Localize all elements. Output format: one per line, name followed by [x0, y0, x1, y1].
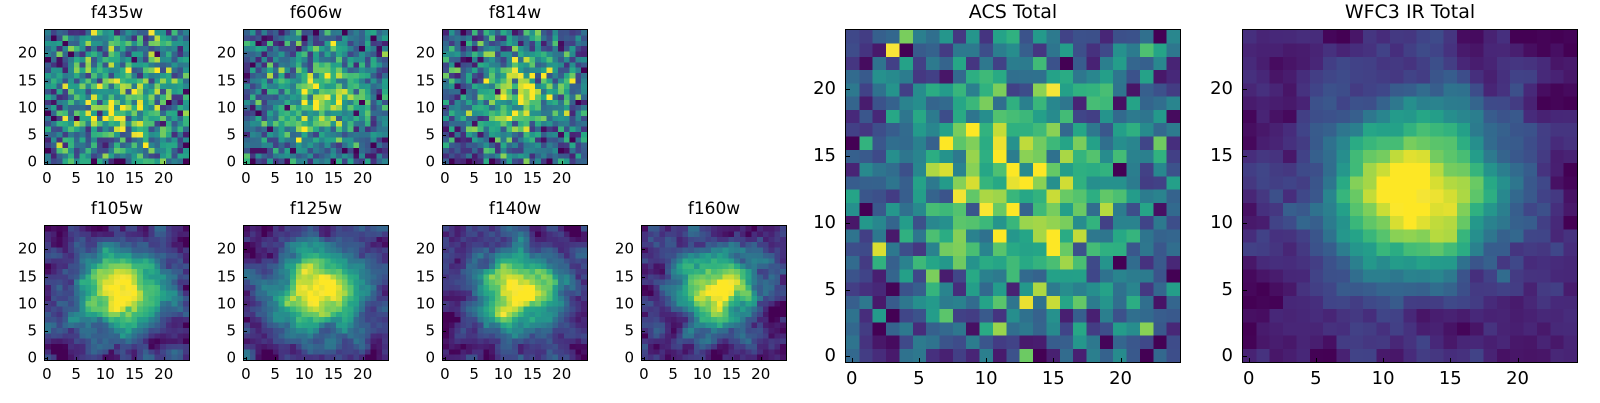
yticklabel-acs_total-2: 10: [805, 214, 836, 232]
heatmap-image: [244, 226, 388, 360]
xtick-wfc3_ir_total-0: [1249, 358, 1250, 363]
ytick-f140w-0: [442, 358, 446, 359]
xticklabel-f105w-4: 20: [154, 367, 173, 382]
ytick-f125w-1: [243, 331, 247, 332]
yticklabel-wfc3_ir_total-1: 5: [1202, 281, 1233, 299]
axes-f105w: [44, 225, 190, 361]
xticklabel-wfc3_ir_total-2: 10: [1372, 370, 1395, 388]
yticklabel-f606w-2: 10: [203, 100, 236, 115]
ytick-f160w-0: [641, 358, 645, 359]
axes-wfc3_ir_total: [1242, 29, 1578, 363]
xtick-f606w-4: [363, 161, 364, 165]
xticklabel-f606w-4: 20: [353, 171, 372, 186]
yticklabel-acs_total-3: 15: [805, 147, 836, 165]
xtick-f140w-4: [562, 357, 563, 361]
xtick-f125w-1: [275, 357, 276, 361]
ytick-f105w-4: [44, 249, 48, 250]
xtick-f105w-1: [76, 357, 77, 361]
yticklabel-acs_total-4: 20: [805, 80, 836, 98]
xticklabel-f160w-4: 20: [751, 367, 770, 382]
xticklabel-f125w-4: 20: [353, 367, 372, 382]
xticklabel-f125w-2: 10: [295, 367, 314, 382]
xtick-acs_total-3: [1053, 358, 1054, 363]
panel-title-acs_total: ACS Total: [845, 3, 1181, 22]
axes-acs_total: [845, 29, 1181, 363]
panel-title-f606w: f606w: [243, 5, 389, 22]
xticklabel-f140w-4: 20: [552, 367, 571, 382]
xticklabel-f435w-2: 10: [96, 171, 115, 186]
xticklabel-f814w-4: 20: [552, 171, 571, 186]
xticklabel-f814w-3: 15: [523, 171, 542, 186]
xticklabel-acs_total-1: 5: [913, 370, 924, 388]
ytick-wfc3_ir_total-0: [1242, 356, 1247, 357]
ytick-f606w-0: [243, 162, 247, 163]
yticklabel-f814w-2: 10: [402, 100, 435, 115]
xticklabel-acs_total-2: 10: [975, 370, 998, 388]
panel-title-f125w: f125w: [243, 201, 389, 218]
yticklabel-wfc3_ir_total-2: 10: [1202, 214, 1233, 232]
xticklabel-f140w-3: 15: [523, 367, 542, 382]
xtick-wfc3_ir_total-4: [1518, 358, 1519, 363]
ytick-f125w-4: [243, 249, 247, 250]
xtick-wfc3_ir_total-3: [1450, 358, 1451, 363]
xticklabel-f125w-3: 15: [324, 367, 343, 382]
axes-f125w: [243, 225, 389, 361]
yticklabel-f140w-2: 10: [402, 296, 435, 311]
panel-title-f814w: f814w: [442, 5, 588, 22]
ytick-f814w-2: [442, 108, 446, 109]
yticklabel-f160w-2: 10: [601, 296, 634, 311]
yticklabel-f814w-3: 15: [402, 73, 435, 88]
xticklabel-f125w-1: 5: [270, 367, 280, 382]
ytick-f160w-2: [641, 304, 645, 305]
panel-title-f160w: f160w: [641, 201, 787, 218]
yticklabel-f140w-3: 15: [402, 269, 435, 284]
xticklabel-acs_total-3: 15: [1042, 370, 1065, 388]
ytick-wfc3_ir_total-2: [1242, 223, 1247, 224]
ytick-f125w-3: [243, 277, 247, 278]
ytick-wfc3_ir_total-3: [1242, 156, 1247, 157]
ytick-acs_total-4: [845, 89, 850, 90]
yticklabel-f140w-4: 20: [402, 242, 435, 257]
yticklabel-f140w-0: 0: [402, 351, 435, 366]
xtick-acs_total-2: [986, 358, 987, 363]
xticklabel-f814w-1: 5: [469, 171, 479, 186]
yticklabel-f606w-3: 15: [203, 73, 236, 88]
xtick-f105w-4: [164, 357, 165, 361]
ytick-acs_total-2: [845, 223, 850, 224]
xticklabel-acs_total-4: 20: [1109, 370, 1132, 388]
panel-f435w: f435w0510152005101520: [4, 5, 190, 205]
xticklabel-wfc3_ir_total-3: 15: [1439, 370, 1462, 388]
panel-title-f435w: f435w: [44, 5, 190, 22]
xtick-f160w-3: [732, 357, 733, 361]
xticklabel-acs_total-0: 0: [846, 370, 857, 388]
ytick-f105w-2: [44, 304, 48, 305]
xticklabel-f105w-1: 5: [71, 367, 81, 382]
yticklabel-f606w-1: 5: [203, 128, 236, 143]
xtick-f160w-2: [702, 357, 703, 361]
ytick-f435w-3: [44, 81, 48, 82]
xticklabel-f435w-3: 15: [125, 171, 144, 186]
yticklabel-f105w-2: 10: [4, 296, 37, 311]
xtick-f606w-2: [304, 161, 305, 165]
yticklabel-wfc3_ir_total-0: 0: [1202, 347, 1233, 365]
panel-title-f140w: f140w: [442, 201, 588, 218]
xticklabel-wfc3_ir_total-4: 20: [1506, 370, 1529, 388]
yticklabel-f814w-1: 5: [402, 128, 435, 143]
xticklabel-f160w-0: 0: [639, 367, 649, 382]
ytick-f606w-3: [243, 81, 247, 82]
yticklabel-f435w-3: 15: [4, 73, 37, 88]
xtick-f125w-2: [304, 357, 305, 361]
yticklabel-wfc3_ir_total-4: 20: [1202, 80, 1233, 98]
xtick-f125w-4: [363, 357, 364, 361]
ytick-f125w-0: [243, 358, 247, 359]
heatmap-image: [443, 30, 587, 164]
heatmap-image: [642, 226, 786, 360]
yticklabel-f435w-4: 20: [4, 46, 37, 61]
panel-title-f105w: f105w: [44, 201, 190, 218]
yticklabel-f125w-3: 15: [203, 269, 236, 284]
xticklabel-wfc3_ir_total-1: 5: [1310, 370, 1321, 388]
xticklabel-f105w-2: 10: [96, 367, 115, 382]
yticklabel-f105w-1: 5: [4, 324, 37, 339]
xtick-f435w-2: [105, 161, 106, 165]
xtick-f160w-1: [673, 357, 674, 361]
xtick-f105w-3: [135, 357, 136, 361]
yticklabel-f814w-0: 0: [402, 155, 435, 170]
ytick-f105w-0: [44, 358, 48, 359]
yticklabel-f125w-1: 5: [203, 324, 236, 339]
xtick-f125w-3: [334, 357, 335, 361]
ytick-f435w-2: [44, 108, 48, 109]
xticklabel-f140w-1: 5: [469, 367, 479, 382]
ytick-acs_total-0: [845, 356, 850, 357]
ytick-f814w-0: [442, 162, 446, 163]
ytick-f814w-3: [442, 81, 446, 82]
xticklabel-f160w-1: 5: [668, 367, 678, 382]
figure-canvas: f435w0510152005101520f606w05101520051015…: [0, 0, 1600, 400]
heatmap-image: [45, 30, 189, 164]
xtick-f814w-4: [562, 161, 563, 165]
heatmap-image: [45, 226, 189, 360]
xtick-f160w-4: [761, 357, 762, 361]
panel-f125w: f125w0510152005101520: [203, 201, 389, 401]
yticklabel-f160w-0: 0: [601, 351, 634, 366]
heatmap-image: [846, 30, 1180, 362]
xtick-f814w-2: [503, 161, 504, 165]
ytick-f140w-2: [442, 304, 446, 305]
panel-wfc3_ir_total: WFC3 IR Total0510152005101520: [1202, 3, 1578, 403]
xticklabel-f140w-0: 0: [440, 367, 450, 382]
ytick-f125w-2: [243, 304, 247, 305]
xticklabel-f606w-0: 0: [241, 171, 251, 186]
xticklabel-f435w-0: 0: [42, 171, 52, 186]
ytick-f435w-4: [44, 53, 48, 54]
ytick-acs_total-3: [845, 156, 850, 157]
ytick-f435w-0: [44, 162, 48, 163]
xtick-f435w-4: [164, 161, 165, 165]
xtick-f140w-2: [503, 357, 504, 361]
xtick-acs_total-0: [852, 358, 853, 363]
ytick-wfc3_ir_total-4: [1242, 89, 1247, 90]
axes-f606w: [243, 29, 389, 165]
yticklabel-acs_total-0: 0: [805, 347, 836, 365]
ytick-f435w-1: [44, 135, 48, 136]
yticklabel-f160w-1: 5: [601, 324, 634, 339]
xticklabel-f435w-4: 20: [154, 171, 173, 186]
xticklabel-f105w-0: 0: [42, 367, 52, 382]
yticklabel-f435w-0: 0: [4, 155, 37, 170]
yticklabel-f606w-0: 0: [203, 155, 236, 170]
axes-f160w: [641, 225, 787, 361]
xtick-f435w-1: [76, 161, 77, 165]
yticklabel-f105w-0: 0: [4, 351, 37, 366]
xticklabel-f814w-0: 0: [440, 171, 450, 186]
xticklabel-f606w-2: 10: [295, 171, 314, 186]
ytick-wfc3_ir_total-1: [1242, 290, 1247, 291]
panel-f105w: f105w0510152005101520: [4, 201, 190, 401]
axes-f140w: [442, 225, 588, 361]
axes-f814w: [442, 29, 588, 165]
panel-acs_total: ACS Total0510152005101520: [805, 3, 1181, 403]
axes-f435w: [44, 29, 190, 165]
xtick-f606w-3: [334, 161, 335, 165]
ytick-f160w-4: [641, 249, 645, 250]
yticklabel-f160w-3: 15: [601, 269, 634, 284]
xticklabel-f814w-2: 10: [494, 171, 513, 186]
xtick-f140w-1: [474, 357, 475, 361]
ytick-f140w-3: [442, 277, 446, 278]
xtick-f814w-1: [474, 161, 475, 165]
xtick-f435w-3: [135, 161, 136, 165]
xticklabel-f160w-2: 10: [693, 367, 712, 382]
xticklabel-f105w-3: 15: [125, 367, 144, 382]
yticklabel-f105w-4: 20: [4, 242, 37, 257]
yticklabel-wfc3_ir_total-3: 15: [1202, 147, 1233, 165]
yticklabel-f125w-2: 10: [203, 296, 236, 311]
panel-f606w: f606w0510152005101520: [203, 5, 389, 205]
heatmap-image: [443, 226, 587, 360]
ytick-f140w-1: [442, 331, 446, 332]
ytick-f606w-1: [243, 135, 247, 136]
xticklabel-f125w-0: 0: [241, 367, 251, 382]
xticklabel-f160w-3: 15: [722, 367, 741, 382]
ytick-f814w-4: [442, 53, 446, 54]
xtick-acs_total-1: [919, 358, 920, 363]
heatmap-image: [244, 30, 388, 164]
ytick-f105w-3: [44, 277, 48, 278]
xtick-acs_total-4: [1121, 358, 1122, 363]
yticklabel-f160w-4: 20: [601, 242, 634, 257]
yticklabel-f125w-4: 20: [203, 242, 236, 257]
xtick-f105w-2: [105, 357, 106, 361]
yticklabel-f814w-4: 20: [402, 46, 435, 61]
yticklabel-f435w-2: 10: [4, 100, 37, 115]
ytick-f105w-1: [44, 331, 48, 332]
yticklabel-f140w-1: 5: [402, 324, 435, 339]
ytick-f606w-4: [243, 53, 247, 54]
xtick-f140w-3: [533, 357, 534, 361]
xticklabel-f606w-1: 5: [270, 171, 280, 186]
xticklabel-f140w-2: 10: [494, 367, 513, 382]
yticklabel-f435w-1: 5: [4, 128, 37, 143]
ytick-f160w-3: [641, 277, 645, 278]
xticklabel-wfc3_ir_total-0: 0: [1243, 370, 1254, 388]
ytick-f160w-1: [641, 331, 645, 332]
xtick-wfc3_ir_total-2: [1383, 358, 1384, 363]
yticklabel-acs_total-1: 5: [805, 281, 836, 299]
xtick-f814w-3: [533, 161, 534, 165]
panel-title-wfc3_ir_total: WFC3 IR Total: [1242, 3, 1578, 22]
xtick-wfc3_ir_total-1: [1316, 358, 1317, 363]
panel-f160w: f160w0510152005101520: [601, 201, 787, 401]
panel-f140w: f140w0510152005101520: [402, 201, 588, 401]
ytick-f140w-4: [442, 249, 446, 250]
yticklabel-f105w-3: 15: [4, 269, 37, 284]
yticklabel-f125w-0: 0: [203, 351, 236, 366]
ytick-f814w-1: [442, 135, 446, 136]
xticklabel-f606w-3: 15: [324, 171, 343, 186]
xtick-f606w-1: [275, 161, 276, 165]
heatmap-image: [1243, 30, 1577, 362]
xticklabel-f435w-1: 5: [71, 171, 81, 186]
panel-f814w: f814w0510152005101520: [402, 5, 588, 205]
yticklabel-f606w-4: 20: [203, 46, 236, 61]
ytick-f606w-2: [243, 108, 247, 109]
ytick-acs_total-1: [845, 290, 850, 291]
